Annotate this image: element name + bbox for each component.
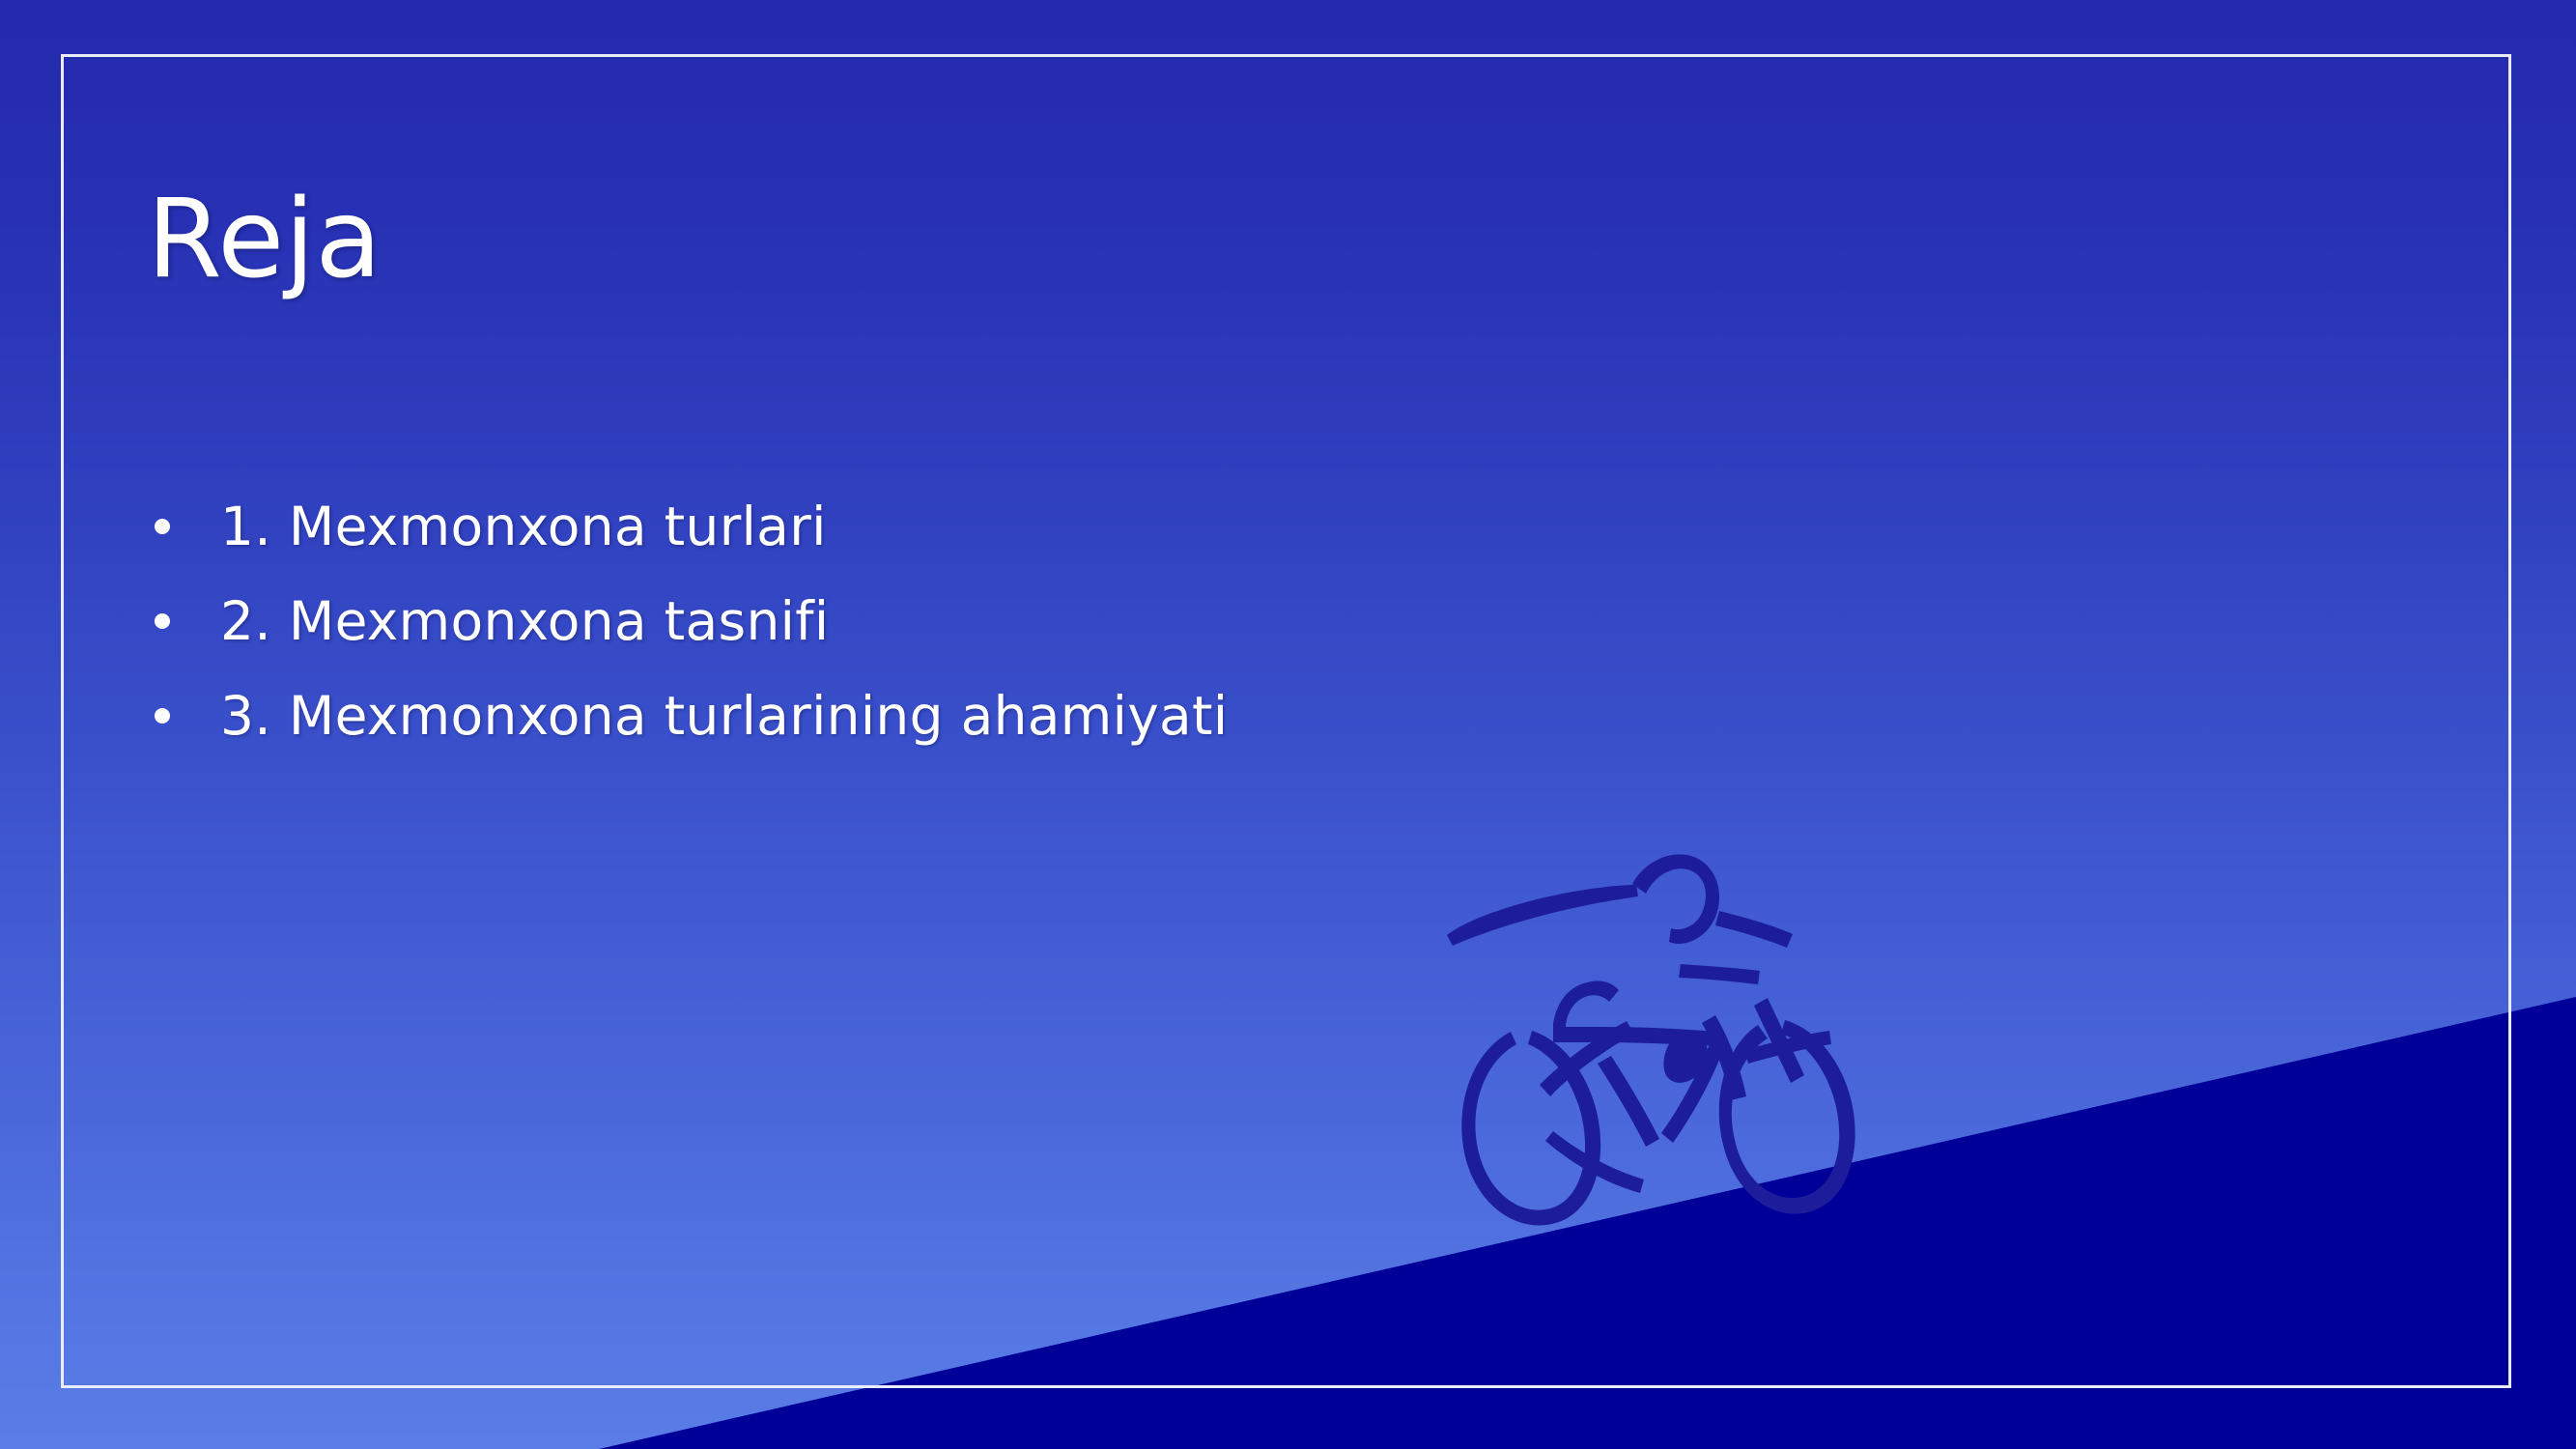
list-item: 2. Mexmonxona tasnifi (155, 574, 2279, 668)
list-item-label: 3. Mexmonxona turlarining ahamiyati (220, 685, 1229, 747)
list-item: 3. Mexmonxona turlarining ahamiyati (155, 668, 2279, 763)
bullet-dot-icon (155, 613, 170, 629)
list-item: 1. Mexmonxona turlari (155, 479, 2279, 574)
agenda-list: 1. Mexmonxona turlari 2. Mexmonxona tasn… (155, 479, 2279, 763)
page-title: Reja (147, 176, 382, 303)
presentation-slide: Reja 1. Mexmonxona turlari 2. Mexmonxona… (0, 0, 2576, 1449)
bullet-dot-icon (155, 708, 170, 724)
bicycle-cyclist-brush-illustration (1439, 826, 1893, 1232)
bullet-dot-icon (155, 519, 170, 534)
list-item-label: 2. Mexmonxona tasnifi (220, 590, 829, 652)
list-item-label: 1. Mexmonxona turlari (220, 496, 827, 557)
